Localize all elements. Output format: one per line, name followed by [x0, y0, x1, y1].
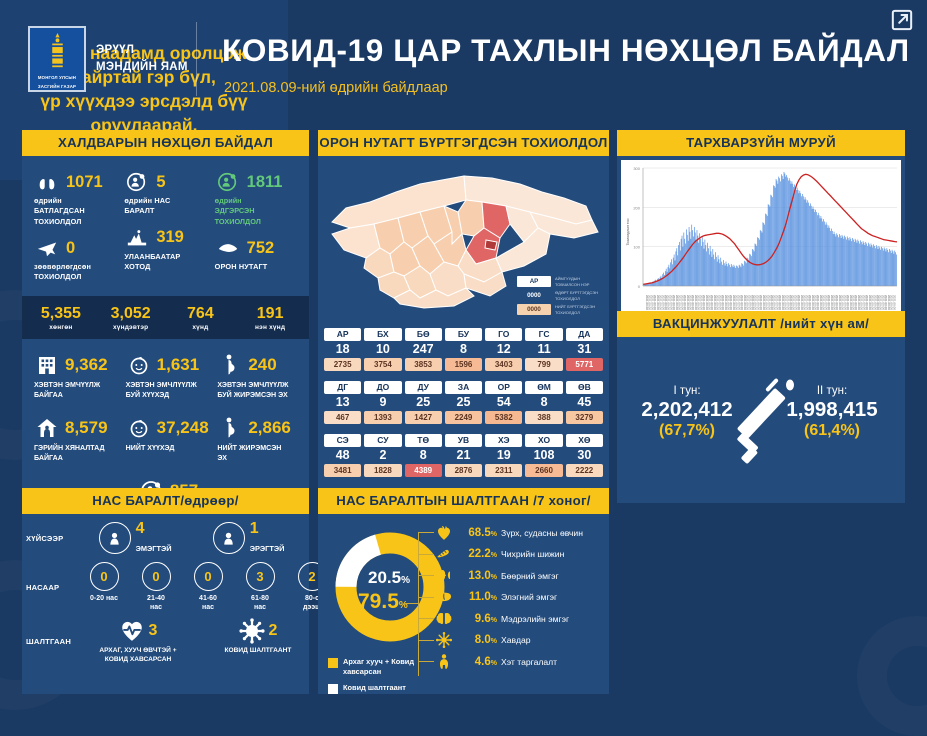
donut-legend-swatch — [328, 658, 338, 668]
province-cell[interactable]: СЭ 48 3481 — [324, 434, 361, 477]
stat-city-icon: 319 УЛААНБААТАРХОТОД — [120, 226, 210, 273]
age-group-stat: 3 61-80нас — [234, 562, 286, 612]
age-value: 0 — [194, 562, 223, 591]
province-total-cases: 2222 — [566, 464, 603, 477]
stat-column: 5 өдрийн НАСБАРАЛТ 319 УЛААНБААТАРХОТОД — [120, 170, 210, 292]
province-cell[interactable]: БӨ 247 3853 — [405, 328, 442, 371]
province-cell[interactable]: ХЭ 19 2311 — [485, 434, 522, 477]
background-circle-decoration — [857, 616, 927, 736]
province-abbr: ДО — [364, 381, 401, 394]
province-new-cases: 18 — [324, 341, 361, 358]
deaths-by-age-row: НАСААР 0 0-20 нас 0 21-40нас 0 41-60нас … — [26, 562, 305, 612]
page-title: КОВИД-19 ЦАР ТАХЛЫН НӨХЦӨЛ БАЙДАЛ — [222, 32, 910, 69]
disease-percent: 22.2% — [457, 548, 497, 560]
map-legend: АР АЙМГУУДЫНТОВЧИЛСОН НЭР 0000 ӨДӨРТ БҮР… — [517, 276, 603, 318]
cancer-icon — [435, 631, 453, 649]
age-value: 3 — [246, 562, 275, 591]
province-abbr: ОР — [485, 381, 522, 394]
cause-value: 2 — [269, 622, 278, 640]
province-total-cases: 467 — [324, 411, 361, 424]
province-total-cases: 1596 — [445, 358, 482, 371]
province-cell[interactable]: БХ 10 3754 — [364, 328, 401, 371]
province-cell[interactable]: ЗА 25 2249 — [445, 381, 482, 424]
age-value: 0 — [90, 562, 119, 591]
gender-stat: 1 ЭРЭГТЭЙ — [213, 520, 285, 556]
province-new-cases: 30 — [566, 447, 603, 464]
vaccine-dose-1: I тун: 2,202,412 (67,7%) — [627, 385, 747, 440]
province-new-cases: 108 — [525, 447, 562, 464]
province-cell[interactable]: ДГ 13 467 — [324, 381, 361, 424]
baby-icon — [127, 416, 151, 440]
disease-percentage-list: 68.5% Зүрх, судасны өвчин 22.2% Чихрийн … — [434, 522, 602, 673]
province-cell[interactable]: ОР 54 5382 — [485, 381, 522, 424]
ministry-name-line1: ЭРҮҮЛ — [96, 42, 188, 59]
stat-airplane-icon: 0 зөөвөрлөгдсөнТОХИОЛДОЛ — [30, 236, 120, 283]
disease-percent: 13.0% — [457, 570, 497, 582]
emblem-caption-line2: ЗАСГИЙН ГАЗАР — [38, 84, 76, 90]
gender-value: 4 — [136, 520, 145, 537]
virus-icon — [239, 618, 265, 644]
hospital-label: НИЙТ ХҮҮХЭД — [126, 443, 212, 453]
province-new-cases: 21 — [445, 447, 482, 464]
age-label: 61-80нас — [234, 594, 286, 612]
province-total-cases: 2311 — [485, 464, 522, 477]
regional-cases-panel: ОРОН НУТАГТ БҮРТГЭГДСЭН ТОХИОЛДОЛ — [318, 130, 609, 503]
province-new-cases: 8 — [405, 447, 442, 464]
vaccination-panel-title: ВАКЦИНЖУУЛАЛТ /нийт хүн ам/ — [617, 311, 905, 337]
province-abbr: ӨМ — [525, 381, 562, 394]
province-total-cases: 3279 — [566, 411, 603, 424]
epidemic-curve-chart[interactable]: 01002003002021.00.002021.00.002021.00.00… — [621, 160, 901, 322]
disease-name: Элэгний эмгэг — [501, 592, 557, 602]
province-new-cases: 19 — [485, 447, 522, 464]
province-cell[interactable]: УВ 21 2876 — [445, 434, 482, 477]
pancreas-icon — [435, 545, 453, 563]
province-new-cases: 48 — [324, 447, 361, 464]
province-total-cases: 4389 — [405, 464, 442, 477]
dose1-label: I тун: — [627, 385, 747, 397]
province-total-cases: 3853 — [405, 358, 442, 371]
disease-percent: 9.6% — [457, 613, 497, 625]
severity-value: 191 — [235, 305, 305, 323]
donut-chronic-pct: 79.5% — [358, 590, 408, 614]
bracket-tick — [418, 661, 434, 662]
stat-value: 752 — [247, 239, 275, 258]
bracket-stem — [404, 603, 418, 604]
province-abbr: УВ — [445, 434, 482, 447]
svg-text:300: 300 — [633, 166, 640, 171]
hospital-stat: 9,362 ХЭВТЭН ЭМЧҮҮЛЖБАЙГАА — [28, 352, 120, 400]
death-causes-panel: НАС БАРАЛТЫН ШАЛТГААН /7 хоног/ 20.5% 79… — [318, 488, 609, 694]
brain-icon — [435, 610, 453, 628]
legend-row: 0000 ӨДӨРТ БҮРТГЭГДСЭНТОХИОЛДОЛ — [517, 290, 603, 301]
severity-value: 3,052 — [96, 305, 166, 323]
hospital-stat: 1,631 ХЭВТЭН ЭМЧЛҮҮЛЖБУЙ ХҮҮХЭД — [120, 352, 212, 400]
province-cell[interactable]: ДУ 25 1427 — [405, 381, 442, 424]
province-cell[interactable]: ХО 108 2660 — [525, 434, 562, 477]
province-cell[interactable]: ХӨ 30 2222 — [566, 434, 603, 477]
death-cause-stat: 2 КОВИД ШАЛТГААНТ — [198, 618, 318, 656]
mongolia-map[interactable]: АР АЙМГУУДЫНТОВЧИЛСОН НЭР 0000 ӨДӨРТ БҮР… — [318, 156, 609, 326]
stat-value: 1071 — [66, 173, 103, 192]
donut-covid-pct: 20.5% — [368, 568, 410, 588]
province-total-cases: 5382 — [485, 411, 522, 424]
ministry-name-line2: МЭНДИЙН ЯАМ — [96, 59, 188, 76]
stat-value: 319 — [156, 228, 184, 247]
province-total-cases: 1828 — [364, 464, 401, 477]
province-new-cases: 54 — [485, 394, 522, 411]
hospital-label: ХЭВТЭН ЭМЧҮҮЛЖБАЙГАА — [34, 380, 120, 400]
disease-name: Бөөрний эмгэг — [501, 571, 559, 581]
province-cell[interactable]: ГС 11 799 — [525, 328, 562, 371]
deaths-by-cause-row: ШАЛТГААН 3 АРХАГ, ХУУЧ ӨВЧТЭЙ +КОВИД ХАВ… — [26, 618, 305, 665]
age-group-stat: 0 21-40нас — [130, 562, 182, 612]
hospital-icon — [35, 353, 59, 377]
daily-deaths-title: НАС БАРАЛТ/өдрөөр/ — [22, 488, 309, 514]
disease-row: 9.6% Мэдрэлийн эмгэг — [434, 608, 602, 630]
disease-name: Зүрх, судасны өвчин — [501, 528, 583, 538]
stat-label: УЛААНБААТАРХОТОД — [124, 252, 210, 273]
donut-legend-label: Архаг хууч + Ковидхавсарсан — [343, 657, 414, 677]
bracket-tick — [418, 554, 434, 555]
stat-value: 0 — [66, 239, 75, 258]
age-label: 21-40нас — [130, 594, 182, 612]
severity-item: 191 нэн хүнд — [235, 305, 305, 331]
severity-value: 764 — [166, 305, 236, 323]
pregnant-icon — [218, 353, 242, 377]
dose2-percent: (61,4%) — [767, 422, 897, 440]
province-abbr: ГО — [485, 328, 522, 341]
chart-panel-title: ТАРХВАРЗҮЙН МУРУЙ — [617, 130, 905, 156]
stat-death-icon: 5 өдрийн НАСБАРАЛТ — [120, 170, 210, 217]
daily-stats-grid: 1071 өдрийнБАТЛАГДСАНТОХИОЛДОЛ 0 зөөвөрл… — [22, 156, 309, 294]
bracket-tick — [418, 640, 434, 641]
page-subtitle: 2021.08.09-ний өдрийн байдлаар — [224, 80, 448, 96]
gender-label: ЭРЭГТЭЙ — [250, 544, 285, 553]
legend-row: АР АЙМГУУДЫНТОВЧИЛСОН НЭР — [517, 276, 603, 287]
province-cell[interactable]: БУ 8 1596 — [445, 328, 482, 371]
heartbeat-icon — [119, 618, 145, 644]
province-abbr: ХО — [525, 434, 562, 447]
home-icon — [35, 416, 59, 440]
pregnant-icon — [218, 416, 242, 440]
province-cell[interactable]: ДО 9 1393 — [364, 381, 401, 424]
province-new-cases: 31 — [566, 341, 603, 358]
hospital-label: ХЭВТЭН ЭМЧЛҮҮЛЖБУЙ ЖИРЭМСЭН ЭХ — [217, 380, 303, 400]
province-abbr: СУ — [364, 434, 401, 447]
legend-text: НИЙТ БҮРТГЭГДСЭНТОХИОЛДОЛ — [555, 304, 595, 314]
disease-percent: 68.5% — [457, 527, 497, 539]
hospital-row: 8,579 ГЭРИЙН ХЯНАЛТАДБАЙГАА 37,248 НИЙТ … — [28, 415, 303, 463]
death-icon — [126, 171, 148, 193]
dose2-label: II тун: — [767, 385, 897, 397]
epidemic-curve-panel: ТАРХВАРЗҮЙН МУРУЙ 01002003002021.00.0020… — [617, 130, 905, 326]
province-new-cases: 25 — [445, 394, 482, 411]
province-cell[interactable]: АР 18 2735 — [324, 328, 361, 371]
province-abbr: ТӨ — [405, 434, 442, 447]
disease-row: 4.6% Хэт таргалалт — [434, 651, 602, 673]
airplane-icon — [36, 237, 58, 259]
baby-icon — [127, 353, 151, 377]
province-cell[interactable]: ӨМ 8 388 — [525, 381, 562, 424]
external-link-icon[interactable] — [891, 9, 913, 31]
disease-name: Мэдрэлийн эмгэг — [501, 614, 569, 624]
province-total-cases: 5771 — [566, 358, 603, 371]
dose1-percent: (67,7%) — [627, 422, 747, 440]
gender-stat: 4 ЭМЭГТЭЙ — [99, 520, 172, 556]
hospital-label: ГЭРИЙН ХЯНАЛТАДБАЙГАА — [34, 443, 120, 463]
province-total-cases: 2249 — [445, 411, 482, 424]
province-abbr: ДГ — [324, 381, 361, 394]
province-total-cases: 3754 — [364, 358, 401, 371]
stat-label: ОРОН НУТАГТ — [215, 262, 301, 272]
age-group-stat: 0 41-60нас — [182, 562, 234, 612]
province-cell[interactable]: ӨВ 45 3279 — [566, 381, 603, 424]
province-total-cases: 2876 — [445, 464, 482, 477]
cause-label: АРХАГ, ХУУЧ ӨВЧТЭЙ +КОВИД ХАВСАРСАН — [99, 647, 176, 665]
hospital-value: 9,362 — [65, 355, 108, 375]
hospital-value: 2,866 — [248, 418, 291, 438]
header-divider — [196, 22, 197, 96]
disease-row: 13.0% Бөөрний эмгэг — [434, 565, 602, 587]
province-total-cases: 2735 — [324, 358, 361, 371]
province-row: АР 18 2735 БХ 10 3754 БӨ 247 3853 БУ 8 1… — [324, 328, 603, 371]
gender-row-label: ХҮЙСЭЭР — [26, 534, 78, 543]
province-abbr: ДА — [566, 328, 603, 341]
cause-value: 3 — [149, 622, 158, 640]
province-row: СЭ 48 3481 СУ 2 1828 ТӨ 8 4389 УВ 21 287… — [324, 434, 603, 477]
svg-text:2021.00.00: 2021.00.00 — [892, 295, 896, 310]
infection-status-panel: ХАЛДВАРЫН НӨХЦӨЛ БАЙДАЛ 1071 өдрийнБАТЛА… — [22, 130, 309, 503]
province-abbr: ХӨ — [566, 434, 603, 447]
bracket-tick — [418, 618, 434, 619]
disease-name: Чихрийн шижин — [501, 549, 564, 559]
disease-row: 68.5% Зүрх, судасны өвчин — [434, 522, 602, 544]
legend-text: АЙМГУУДЫНТОВЧИЛСОН НЭР — [555, 276, 589, 286]
province-total-cases: 1427 — [405, 411, 442, 424]
hospital-stat: 240 ХЭВТЭН ЭМЧЛҮҮЛЖБУЙ ЖИРЭМСЭН ЭХ — [211, 352, 303, 400]
kidney-icon — [435, 567, 453, 585]
stat-label: өдрийнБАТЛАГДСАНТОХИОЛДОЛ — [34, 196, 120, 227]
province-new-cases: 247 — [405, 341, 442, 358]
province-cell[interactable]: ДА 31 5771 — [566, 328, 603, 371]
province-abbr: БӨ — [405, 328, 442, 341]
legend-chip: 0000 — [517, 304, 551, 315]
svg-text:100: 100 — [633, 245, 640, 250]
severity-item: 3,052 хүндэвтэр — [96, 305, 166, 331]
disease-name: Хэт таргалалт — [501, 657, 557, 667]
stat-column: 1811 өдрийнЭДГЭРСЭНТОХИОЛДОЛ 752 ОРОН НУ… — [211, 170, 301, 292]
infection-panel-title: ХАЛДВАРЫН НӨХЦӨЛ БАЙДАЛ — [22, 130, 309, 156]
province-abbr: ӨВ — [566, 381, 603, 394]
province-new-cases: 45 — [566, 394, 603, 411]
disease-percent: 4.6% — [457, 656, 497, 668]
stat-value: 1811 — [247, 173, 283, 192]
obesity-icon — [435, 653, 453, 671]
death-cause-stat: 3 АРХАГ, ХУУЧ ӨВЧТЭЙ +КОВИД ХАВСАРСАН — [78, 618, 198, 665]
map-panel-title: ОРОН НУТАГТ БҮРТГЭГДСЭН ТОХИОЛДОЛ — [318, 130, 609, 156]
hospital-stat: 37,248 НИЙТ ХҮҮХЭД — [120, 415, 212, 463]
province-new-cases: 8 — [445, 341, 482, 358]
province-abbr: БУ — [445, 328, 482, 341]
disease-row: 22.2% Чихрийн шижин — [434, 544, 602, 566]
province-row: ДГ 13 467 ДО 9 1393 ДУ 25 1427 ЗА 25 224… — [324, 381, 603, 424]
city-icon — [126, 227, 148, 249]
age-group-stat: 0 0-20 нас — [78, 562, 130, 603]
hospital-value: 240 — [248, 355, 276, 375]
province-abbr: ХЭ — [485, 434, 522, 447]
province-total-cases: 1393 — [364, 411, 401, 424]
row-spacer — [324, 427, 603, 434]
age-label: 0-20 нас — [78, 594, 130, 603]
province-new-cases: 10 — [364, 341, 401, 358]
province-cell[interactable]: СУ 2 1828 — [364, 434, 401, 477]
province-new-cases: 12 — [485, 341, 522, 358]
legend-row: 0000 НИЙТ БҮРТГЭГДСЭНТОХИОЛДОЛ — [517, 304, 603, 315]
cause-row-label: ШАЛТГААН — [26, 637, 78, 646]
donut-legend-swatch — [328, 684, 338, 694]
death-causes-title: НАС БАРАЛТЫН ШАЛТГААН /7 хоног/ — [318, 488, 609, 514]
legend-chip: 0000 — [517, 290, 551, 301]
age-label: 41-60нас — [182, 594, 234, 612]
age-value: 0 — [142, 562, 171, 591]
severity-item: 764 хүнд — [166, 305, 236, 331]
stat-label: өдрийнЭДГЭРСЭНТОХИОЛДОЛ — [215, 196, 301, 227]
row-spacer — [324, 374, 603, 381]
legend-chip: АР — [517, 276, 551, 287]
female-icon — [104, 528, 125, 549]
liver-icon — [435, 588, 453, 606]
svg-text:Тохиолдлын тоо: Тохиолдлын тоо — [626, 218, 630, 245]
dose2-value: 1,998,415 — [767, 398, 897, 422]
province-abbr: АР — [324, 328, 361, 341]
bracket-tick — [418, 597, 434, 598]
stat-label: өдрийн НАСБАРАЛТ — [124, 196, 210, 217]
country-icon — [217, 237, 239, 259]
donut-legend-item: Ковид шалтгаант — [328, 683, 452, 694]
stat-value: 5 — [156, 173, 165, 192]
province-total-cases: 3481 — [324, 464, 361, 477]
ministry-logo: МОНГОЛ УЛСЫН ЗАСГИЙН ГАЗАР ЭРҮҮЛ МЭНДИЙН… — [28, 26, 188, 92]
severity-value: 5,355 — [26, 305, 96, 323]
vaccination-panel: ВАКЦИНЖУУЛАЛТ /нийт хүн ам/ I тун: 2,202… — [617, 311, 905, 503]
disease-name: Хавдар — [501, 635, 531, 645]
hospital-label: НИЙТ ЖИРЭМСЭНЭХ — [217, 443, 303, 463]
disease-percent: 8.0% — [457, 634, 497, 646]
severity-item: 5,355 хөнгөн — [26, 305, 96, 331]
page-header: МОНГОЛ УЛСЫН ЗАСГИЙН ГАЗАР ЭРҮҮЛ МЭНДИЙН… — [0, 0, 927, 118]
hospital-row: 9,362 ХЭВТЭН ЭМЧҮҮЛЖБАЙГАА 1,631 ХЭВТЭН … — [28, 352, 303, 400]
male-icon — [218, 528, 239, 549]
disease-row: 8.0% Хавдар — [434, 630, 602, 652]
hospital-stat: 2,866 НИЙТ ЖИРЭМСЭНЭХ — [211, 415, 303, 463]
svg-text:200: 200 — [633, 205, 640, 210]
stat-lungs-icon: 1071 өдрийнБАТЛАГДСАНТОХИОЛДОЛ — [30, 170, 120, 227]
lungs-icon — [36, 171, 58, 193]
bracket-tick — [418, 575, 434, 576]
government-emblem: МОНГОЛ УЛСЫН ЗАСГИЙН ГАЗАР — [28, 26, 86, 92]
stat-recovered-icon: 1811 өдрийнЭДГЭРСЭНТОХИОЛДОЛ — [211, 170, 301, 227]
age-row-label: НАСААР — [26, 583, 78, 592]
severity-label: хүндэвтэр — [96, 324, 166, 331]
daily-deaths-panel: НАС БАРАЛТ/өдрөөр/ ХҮЙСЭЭР 4 ЭМЭГТЭЙ 1 Э… — [22, 488, 309, 694]
province-case-table: АР 18 2735 БХ 10 3754 БӨ 247 3853 БУ 8 1… — [318, 326, 609, 484]
gender-value: 1 — [250, 520, 259, 537]
province-total-cases: 388 — [525, 411, 562, 424]
disease-percent: 11.0% — [457, 591, 497, 603]
heart-icon — [435, 524, 453, 542]
stat-column: 1071 өдрийнБАТЛАГДСАНТОХИОЛДОЛ 0 зөөвөрл… — [30, 170, 120, 292]
soyombo-icon — [48, 33, 67, 72]
hospital-stat: 8,579 ГЭРИЙН ХЯНАЛТАДБАЙГАА — [28, 415, 120, 463]
hospital-label: ХЭВТЭН ЭМЧЛҮҮЛЖБУЙ ХҮҮХЭД — [126, 380, 212, 400]
dose1-value: 2,202,412 — [627, 398, 747, 422]
chart-svg: 01002003002021.00.002021.00.002021.00.00… — [621, 160, 901, 322]
hospital-value: 37,248 — [157, 418, 209, 438]
province-abbr: ГС — [525, 328, 562, 341]
province-new-cases: 11 — [525, 341, 562, 358]
cause-label: КОВИД ШАЛТГААНТ — [225, 647, 292, 656]
province-new-cases: 13 — [324, 394, 361, 411]
hospital-value: 1,631 — [157, 355, 200, 375]
province-cell[interactable]: ГО 12 3403 — [485, 328, 522, 371]
province-total-cases: 2660 — [525, 464, 562, 477]
gender-label: ЭМЭГТЭЙ — [136, 544, 172, 553]
province-new-cases: 8 — [525, 394, 562, 411]
province-cell[interactable]: ТӨ 8 4389 — [405, 434, 442, 477]
hospital-value: 8,579 — [65, 418, 108, 438]
province-total-cases: 799 — [525, 358, 562, 371]
deaths-by-gender-row: ХҮЙСЭЭР 4 ЭМЭГТЭЙ 1 ЭРЭГТЭЙ — [26, 520, 305, 556]
province-new-cases: 25 — [405, 394, 442, 411]
severity-breakdown: 5,355 хөнгөн 3,052 хүндэвтэр 764 хүнд 19… — [22, 296, 309, 339]
legend-text: ӨДӨРТ БҮРТГЭГДСЭНТОХИОЛДОЛ — [555, 290, 598, 300]
donut-legend-label: Ковид шалтгаант — [343, 683, 406, 693]
recovered-icon — [217, 171, 239, 193]
severity-label: хүнд — [166, 324, 236, 331]
province-abbr: ДУ — [405, 381, 442, 394]
province-total-cases: 3403 — [485, 358, 522, 371]
province-new-cases: 2 — [364, 447, 401, 464]
disease-row: 11.0% Элэгний эмгэг — [434, 587, 602, 609]
bracket-tick — [418, 532, 434, 533]
province-abbr: СЭ — [324, 434, 361, 447]
vaccine-dose-2: II тун: 1,998,415 (61,4%) — [767, 385, 897, 440]
province-abbr: ЗА — [445, 381, 482, 394]
severity-label: нэн хүнд — [235, 324, 305, 331]
stat-label: зөөвөрлөгдсөнТОХИОЛДОЛ — [34, 262, 120, 283]
province-new-cases: 9 — [364, 394, 401, 411]
severity-label: хөнгөн — [26, 324, 96, 331]
stat-country-icon: 752 ОРОН НУТАГТ — [211, 236, 301, 272]
province-abbr: БХ — [364, 328, 401, 341]
emblem-caption-line1: МОНГОЛ УЛСЫН — [38, 75, 76, 81]
